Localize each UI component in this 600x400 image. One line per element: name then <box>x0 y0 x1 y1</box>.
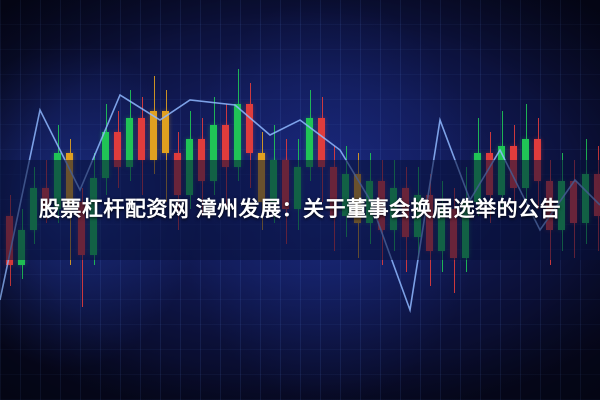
candle-body <box>150 111 157 160</box>
candle-body <box>246 104 253 153</box>
headline-title: 股票杠杆配资网 漳州发展：关于董事会换届选举的公告 <box>0 160 600 260</box>
candle-body <box>138 118 145 160</box>
news-banner-image: 股票杠杆配资网 漳州发展：关于董事会换届选举的公告 <box>0 0 600 400</box>
candle-body <box>162 111 169 153</box>
candle-body <box>234 104 241 167</box>
